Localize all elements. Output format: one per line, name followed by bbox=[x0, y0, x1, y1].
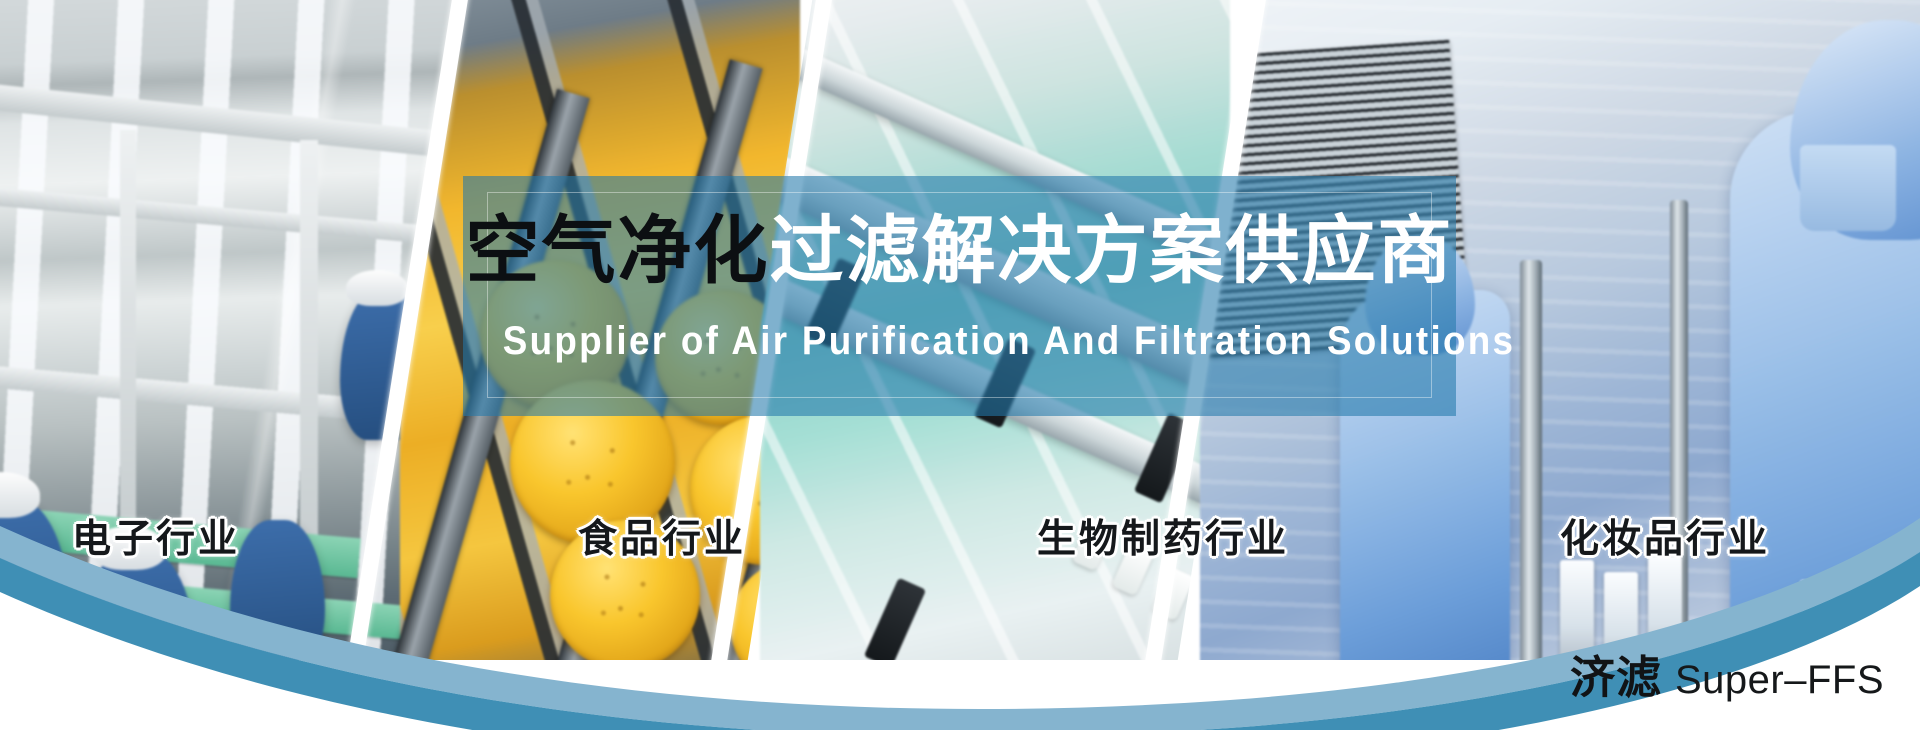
brand-name-chinese: 济滤 bbox=[1570, 641, 1662, 706]
brand-name-english: Super–FFS bbox=[1675, 658, 1884, 703]
caption-electronics: 电子行业 bbox=[72, 508, 240, 564]
hero-banner: 空气净化过滤解决方案供应商 Supplier of Air Purificati… bbox=[0, 0, 1920, 730]
headline-chinese-dark: 空气净化 bbox=[466, 208, 770, 294]
headline-overlay-box: 空气净化过滤解决方案供应商 Supplier of Air Purificati… bbox=[463, 176, 1456, 416]
caption-cosmetics: 化妆品行业 bbox=[1560, 508, 1770, 564]
caption-pharma: 生物制药行业 bbox=[1037, 508, 1289, 564]
caption-food: 食品行业 bbox=[578, 508, 746, 564]
headline-english: Supplier of Air Purification And Filtrat… bbox=[503, 321, 1417, 361]
headline-chinese: 空气净化过滤解决方案供应商 bbox=[463, 214, 1456, 288]
headline-chinese-light: 过滤解决方案供应商 bbox=[770, 208, 1454, 294]
brand-lockup: 济滤 Super–FFS bbox=[1570, 641, 1884, 706]
